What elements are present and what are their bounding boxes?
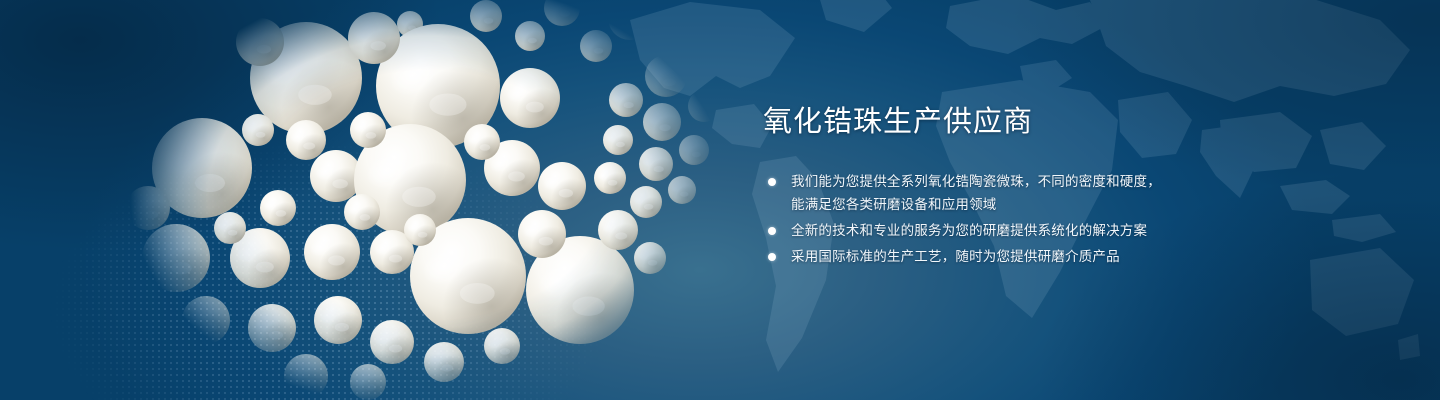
zirconia-beads-photo bbox=[110, 0, 750, 400]
list-item-line1: 采用国际标准的生产工艺，随时为您提供研磨介质产品 bbox=[791, 249, 1120, 264]
bullet-dot-icon bbox=[768, 253, 776, 261]
banner-copy: 氧化锆珠生产供应商 我们能为您提供全系列氧化锆陶瓷微珠，不同的密度和硬度， 能满… bbox=[763, 104, 1233, 271]
list-item: 我们能为您提供全系列氧化锆陶瓷微珠，不同的密度和硬度， 能满足您各类研磨设备和应… bbox=[763, 170, 1233, 216]
list-item: 采用国际标准的生产工艺，随时为您提供研磨介质产品 bbox=[763, 245, 1233, 268]
list-item: 全新的技术和专业的服务为您的研磨提供系统化的解决方案 bbox=[763, 219, 1233, 242]
bullet-dot-icon bbox=[768, 227, 776, 235]
hero-banner: 氧化锆珠生产供应商 我们能为您提供全系列氧化锆陶瓷微珠，不同的密度和硬度， 能满… bbox=[0, 0, 1440, 400]
list-item-line2: 能满足您各类研磨设备和应用领域 bbox=[791, 193, 1233, 216]
page-title: 氧化锆珠生产供应商 bbox=[763, 104, 1233, 140]
feature-list: 我们能为您提供全系列氧化锆陶瓷微珠，不同的密度和硬度， 能满足您各类研磨设备和应… bbox=[763, 170, 1233, 268]
bullet-dot-icon bbox=[768, 178, 776, 186]
list-item-line1: 我们能为您提供全系列氧化锆陶瓷微珠，不同的密度和硬度， bbox=[791, 174, 1161, 189]
list-item-line1: 全新的技术和专业的服务为您的研磨提供系统化的解决方案 bbox=[791, 223, 1147, 238]
